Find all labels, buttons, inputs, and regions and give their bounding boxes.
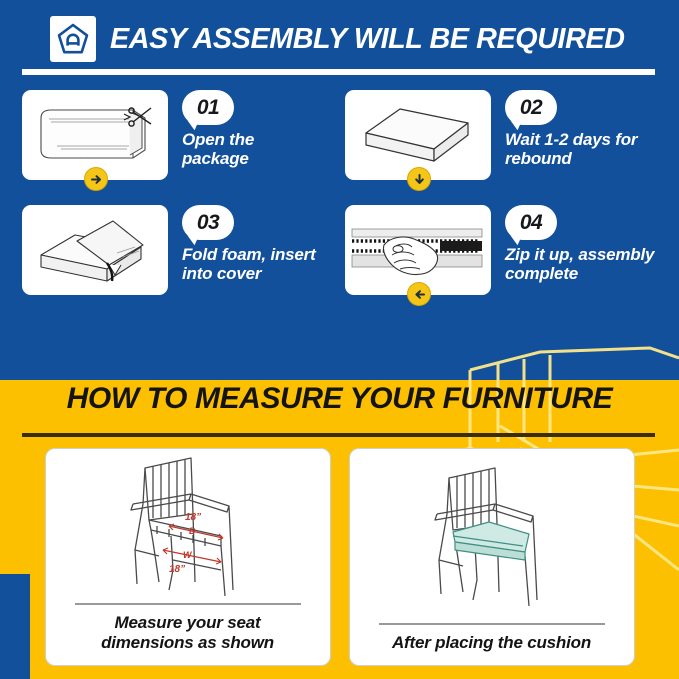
page-title: EASY ASSEMBLY WILL BE REQUIRED [110,23,625,56]
panel-1-caption-line2: dimensions as shown [63,633,313,653]
infographic-root: EASY ASSEMBLY WILL BE REQUIRED [0,0,679,679]
panel-1-art: 18” D W 18” [46,449,330,603]
header: EASY ASSEMBLY WILL BE REQUIRED [0,0,679,78]
package-bag-scissors-icon [29,98,161,172]
step-01-label: Open the package [182,130,254,168]
step-04-label-line2: complete [505,264,654,283]
step-04-label: Zip it up, assembly complete [505,245,654,283]
arrow-down-icon [407,167,431,191]
panel-2-caption: After placing the cushion [367,625,617,665]
step-04-illustration-card [345,205,491,295]
step-03-label-line2: into cover [182,264,316,283]
step-01-label-line1: Open the [182,130,254,149]
measure-panel-cushion: After placing the cushion [349,448,635,666]
step-02-label-line2: rebound [505,149,637,168]
hand-zipping-cushion-icon [348,211,488,289]
chair-with-cushion-icon [377,460,607,612]
measure-panels: 18” D W 18” Measure your seat dimensions… [0,448,679,666]
step-01-label-line2: package [182,149,254,168]
step-item-02: 02 Wait 1-2 days for rebound [339,86,678,201]
panel-2-caption-line1: After placing the cushion [367,633,617,653]
panel-2-art [350,449,634,623]
svg-text:18”: 18” [169,564,185,575]
panel-1-caption-line1: Measure your seat [63,613,313,633]
foam-slab-icon [356,99,480,171]
fold-foam-into-cover-icon [31,213,159,287]
step-item-03: 03 Fold foam, insert into cover [0,201,339,316]
step-04-text: 04 Zip it up, assembly complete [505,205,654,283]
house-logo-glyph [56,22,90,56]
svg-text:W: W [183,550,193,560]
step-02-number: 02 [505,90,557,125]
step-02-label: Wait 1-2 days for rebound [505,130,637,168]
step-01-number: 01 [182,90,234,125]
header-underline [22,69,655,75]
measure-panel-dimensions: 18” D W 18” Measure your seat dimensions… [45,448,331,666]
step-01-text: 01 Open the package [182,90,254,168]
panel-1-caption: Measure your seat dimensions as shown [63,605,313,665]
step-01-illustration-card [22,90,168,180]
step-item-04: 04 Zip it up, assembly complete [339,201,678,316]
step-02-label-line1: Wait 1-2 days for [505,130,637,149]
step-03-illustration-card [22,205,168,295]
step-03-text: 03 Fold foam, insert into cover [182,205,316,283]
svg-text:D: D [189,526,196,536]
step-02-illustration-card [345,90,491,180]
steps-row-1: 01 Open the package [0,86,679,201]
step-02-text: 02 Wait 1-2 days for rebound [505,90,637,168]
step-03-label: Fold foam, insert into cover [182,245,316,283]
measure-section-title: HOW TO MEASURE YOUR FURNITURE [0,382,679,416]
measure-section-underline [22,433,655,437]
step-item-01: 01 Open the package [0,86,339,201]
house-logo-icon [50,16,96,62]
step-03-label-line1: Fold foam, insert [182,245,316,264]
step-04-number: 04 [505,205,557,240]
assembly-steps: 01 Open the package [0,86,679,316]
arrow-left-icon [407,282,431,306]
arrow-right-icon [84,167,108,191]
steps-row-2: 03 Fold foam, insert into cover [0,201,679,316]
step-04-label-line1: Zip it up, assembly [505,245,654,264]
svg-text:18”: 18” [185,512,201,523]
step-03-number: 03 [182,205,234,240]
chair-with-dimensions-icon: 18” D W 18” [73,450,303,602]
